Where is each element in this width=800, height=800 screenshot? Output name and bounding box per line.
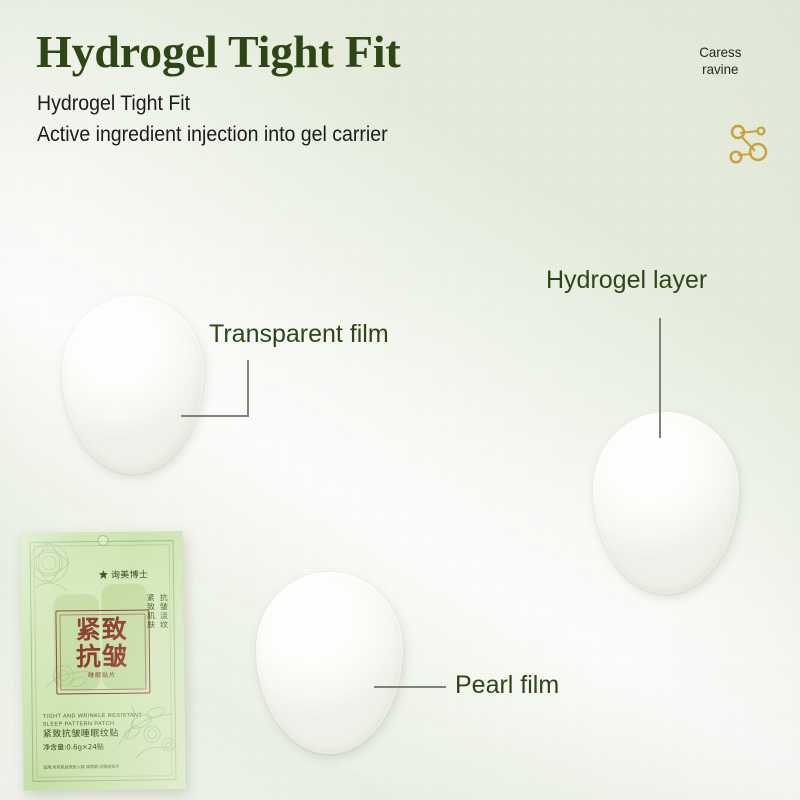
leader-line-transparent-film-horizontal <box>181 415 249 417</box>
product-package: 询美博士 紧致 抗皱 睡眠贴片 抗皱淡纹 紧致肌肤 TIGHT AND WRIN… <box>20 531 185 791</box>
package-title-line-1: 紧致 <box>61 616 141 644</box>
callout-label-hydrogel-layer: Hydrogel layer <box>546 268 707 293</box>
package-title-chinese: 紧致 抗皱 <box>61 616 142 671</box>
product-infographic-canvas: Hydrogel Tight Fit Hydrogel Tight Fit Ac… <box>0 0 800 800</box>
gel-patch-transparent-film <box>62 296 204 474</box>
package-brand-name: 询美博士 <box>111 567 148 580</box>
subtitle-line-2: Active ingredient injection into gel car… <box>37 124 388 145</box>
package-fine-print: 适用:所有肌肤类型人群 保质期:见瓶底批号 <box>43 764 143 771</box>
brand-line-1: Caress <box>677 44 764 61</box>
subtitle-line-1: Hydrogel Tight Fit <box>37 93 190 114</box>
clover-icon <box>99 570 108 579</box>
package-hang-hole <box>97 535 108 546</box>
package-english-name: TIGHT AND WRINKLE RESISTANT SLEEP PATTER… <box>43 711 153 728</box>
package-brand-logo: 询美博士 <box>99 567 148 581</box>
brand-line-2: ravine <box>677 61 764 78</box>
gel-patch-pearl-film <box>256 572 403 754</box>
leader-line-pearl-film <box>374 686 446 688</box>
package-floral-ornament <box>22 536 93 607</box>
leader-line-transparent-film-vertical <box>247 360 249 417</box>
brand-mark: Caress ravine <box>677 44 764 78</box>
molecule-icon <box>727 121 773 167</box>
package-side-claim-a: 抗皱淡纹 <box>156 593 168 629</box>
package-net-weight: 净含量:0.6g×24贴 <box>43 743 104 753</box>
gel-patch-hydrogel-layer <box>593 412 739 594</box>
leader-line-hydrogel-layer <box>659 318 661 438</box>
callout-label-pearl-film: Pearl film <box>455 673 559 698</box>
callout-label-transparent-film: Transparent film <box>209 322 389 347</box>
package-side-claim-b: 紧致肌肤 <box>143 593 155 629</box>
package-product-name: 紧致抗皱睡眠纹贴 <box>43 729 119 741</box>
package-title-subtext: 睡眠贴片 <box>62 672 142 681</box>
page-title: Hydrogel Tight Fit <box>36 29 400 75</box>
package-title-line-2: 抗皱 <box>62 643 142 671</box>
